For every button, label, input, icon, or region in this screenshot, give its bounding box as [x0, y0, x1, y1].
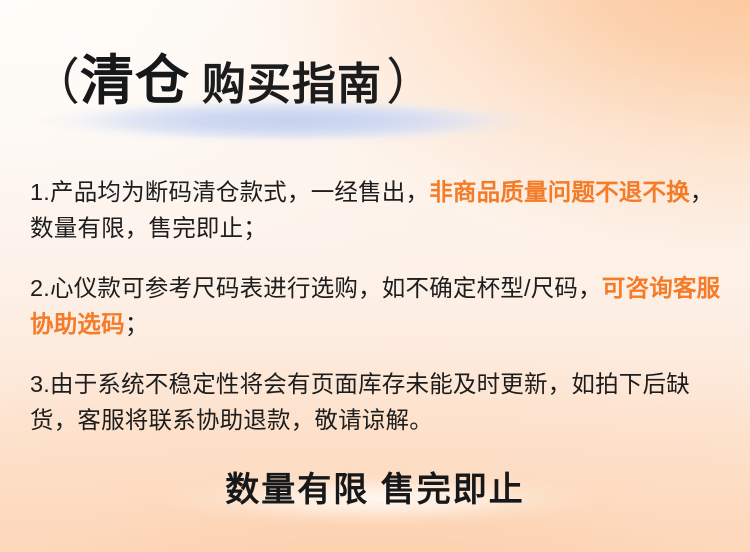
note-text: 由于系统不稳定性将会有页面库存未能及时更新，如拍下后缺货，客服将联系协助退款，敬…: [30, 371, 690, 433]
clearance-guide-poster: （ 清仓 购买指南 ） 1.产品均为断码清仓款式，一经售出，非商品质量问题不退不…: [0, 0, 750, 552]
note-highlighted-text: 非商品质量问题不退不换: [429, 179, 690, 205]
bottom-slogan: 数量有限 售完即止: [0, 462, 750, 511]
note-index: 2.: [30, 275, 50, 301]
note-item: 2.心仪款可参考尺码表进行选购，如不确定杯型/尺码，可咨询客服协助选码；: [30, 270, 724, 342]
note-item: 3.由于系统不稳定性将会有页面库存未能及时更新，如拍下后缺货，客服将联系协助退款…: [30, 366, 724, 438]
note-index: 1.: [30, 179, 50, 205]
note-item: 1.产品均为断码清仓款式，一经售出，非商品质量问题不退不换，数量有限，售完即止；: [30, 174, 724, 246]
page-title: （ 清仓 购买指南 ）: [30, 54, 434, 108]
title-subtitle-buying-guide: 购买指南: [202, 63, 382, 107]
note-text: 产品均为断码清仓款式，一经售出，: [50, 179, 429, 205]
note-index: 3.: [30, 371, 50, 397]
poster-content: （ 清仓 购买指南 ） 1.产品均为断码清仓款式，一经售出，非商品质量问题不退不…: [0, 0, 750, 552]
note-text: 心仪款可参考尺码表进行选购，如不确定杯型/尺码，: [50, 275, 602, 301]
title-keyword-clearance: 清仓: [80, 54, 190, 108]
note-text: ；: [125, 311, 149, 337]
notes-list: 1.产品均为断码清仓款式，一经售出，非商品质量问题不退不换，数量有限，售完即止；…: [30, 174, 724, 438]
title-right-parenthesis: ）: [386, 57, 434, 107]
title-left-parenthesis: （: [30, 57, 78, 107]
